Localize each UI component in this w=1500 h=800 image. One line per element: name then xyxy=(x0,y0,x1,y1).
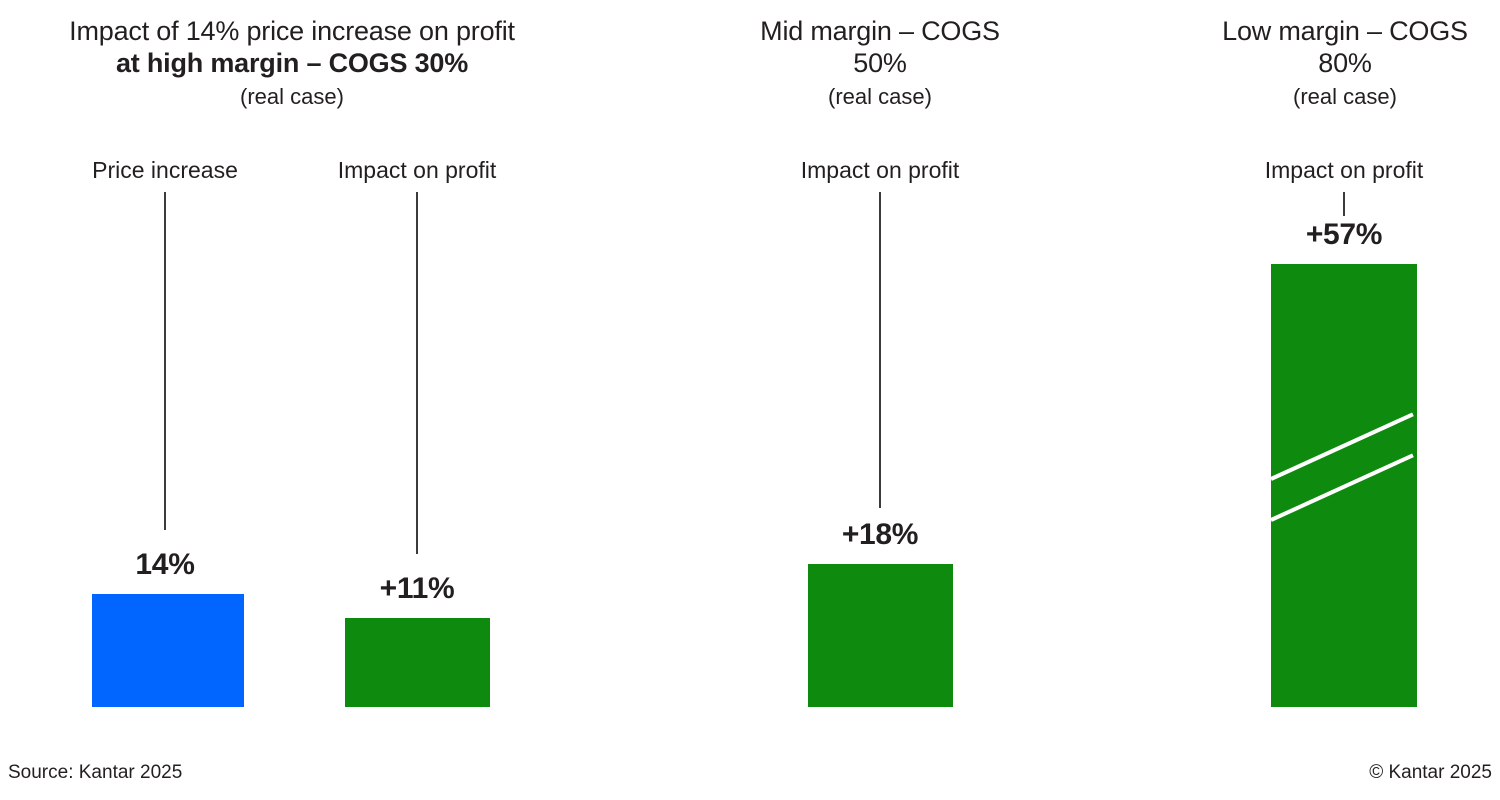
copyright-note: © Kantar 2025 xyxy=(1369,762,1492,784)
axis-break-line-lower xyxy=(1271,453,1414,521)
value-label-impact-on-profit-low: +57% xyxy=(1306,218,1382,252)
panel-title-line-1: Low margin – COGS xyxy=(1150,16,1500,48)
value-label-price-increase: 14% xyxy=(135,548,194,582)
bar-impact-on-profit-high-margin[interactable] xyxy=(345,618,490,707)
series-label-impact-on-profit-mid: Impact on profit xyxy=(801,157,960,184)
chart-canvas: Impact of 14% price increase on profit a… xyxy=(0,0,1500,800)
panel-title-line-1: Impact of 14% price increase on profit xyxy=(0,16,584,48)
series-label-price-increase: Price increase xyxy=(92,157,238,184)
leader-line-price-increase xyxy=(164,192,166,530)
value-label-impact-on-profit: +11% xyxy=(380,572,455,606)
panel-title-line-2: 50% xyxy=(690,48,1070,80)
panel-subtitle: (real case) xyxy=(0,84,584,110)
bar-impact-on-profit-mid-margin[interactable] xyxy=(808,564,953,707)
panel-title-mid-margin: Mid margin – COGS 50% (real case) xyxy=(690,16,1070,110)
source-note: Source: Kantar 2025 xyxy=(8,762,182,784)
panel-title-low-margin: Low margin – COGS 80% (real case) xyxy=(1150,16,1500,110)
series-label-impact-on-profit: Impact on profit xyxy=(338,157,497,184)
panel-title-line-2: 80% xyxy=(1150,48,1500,80)
leader-line-impact-on-profit xyxy=(416,192,418,554)
panel-title-high-margin: Impact of 14% price increase on profit a… xyxy=(0,16,584,110)
panel-subtitle: (real case) xyxy=(1150,84,1500,110)
axis-break-line-upper xyxy=(1271,412,1414,480)
bar-impact-on-profit-low-margin[interactable] xyxy=(1271,264,1417,707)
panel-title-line-1: Mid margin – COGS xyxy=(690,16,1070,48)
value-label-impact-on-profit-mid: +18% xyxy=(842,518,918,552)
series-label-impact-on-profit-low: Impact on profit xyxy=(1265,157,1424,184)
leader-line-impact-on-profit-mid xyxy=(879,192,881,508)
panel-title-line-2: at high margin – COGS 30% xyxy=(0,48,584,80)
bar-price-increase[interactable] xyxy=(92,594,244,707)
panel-subtitle: (real case) xyxy=(690,84,1070,110)
leader-line-impact-on-profit-low xyxy=(1343,192,1345,216)
